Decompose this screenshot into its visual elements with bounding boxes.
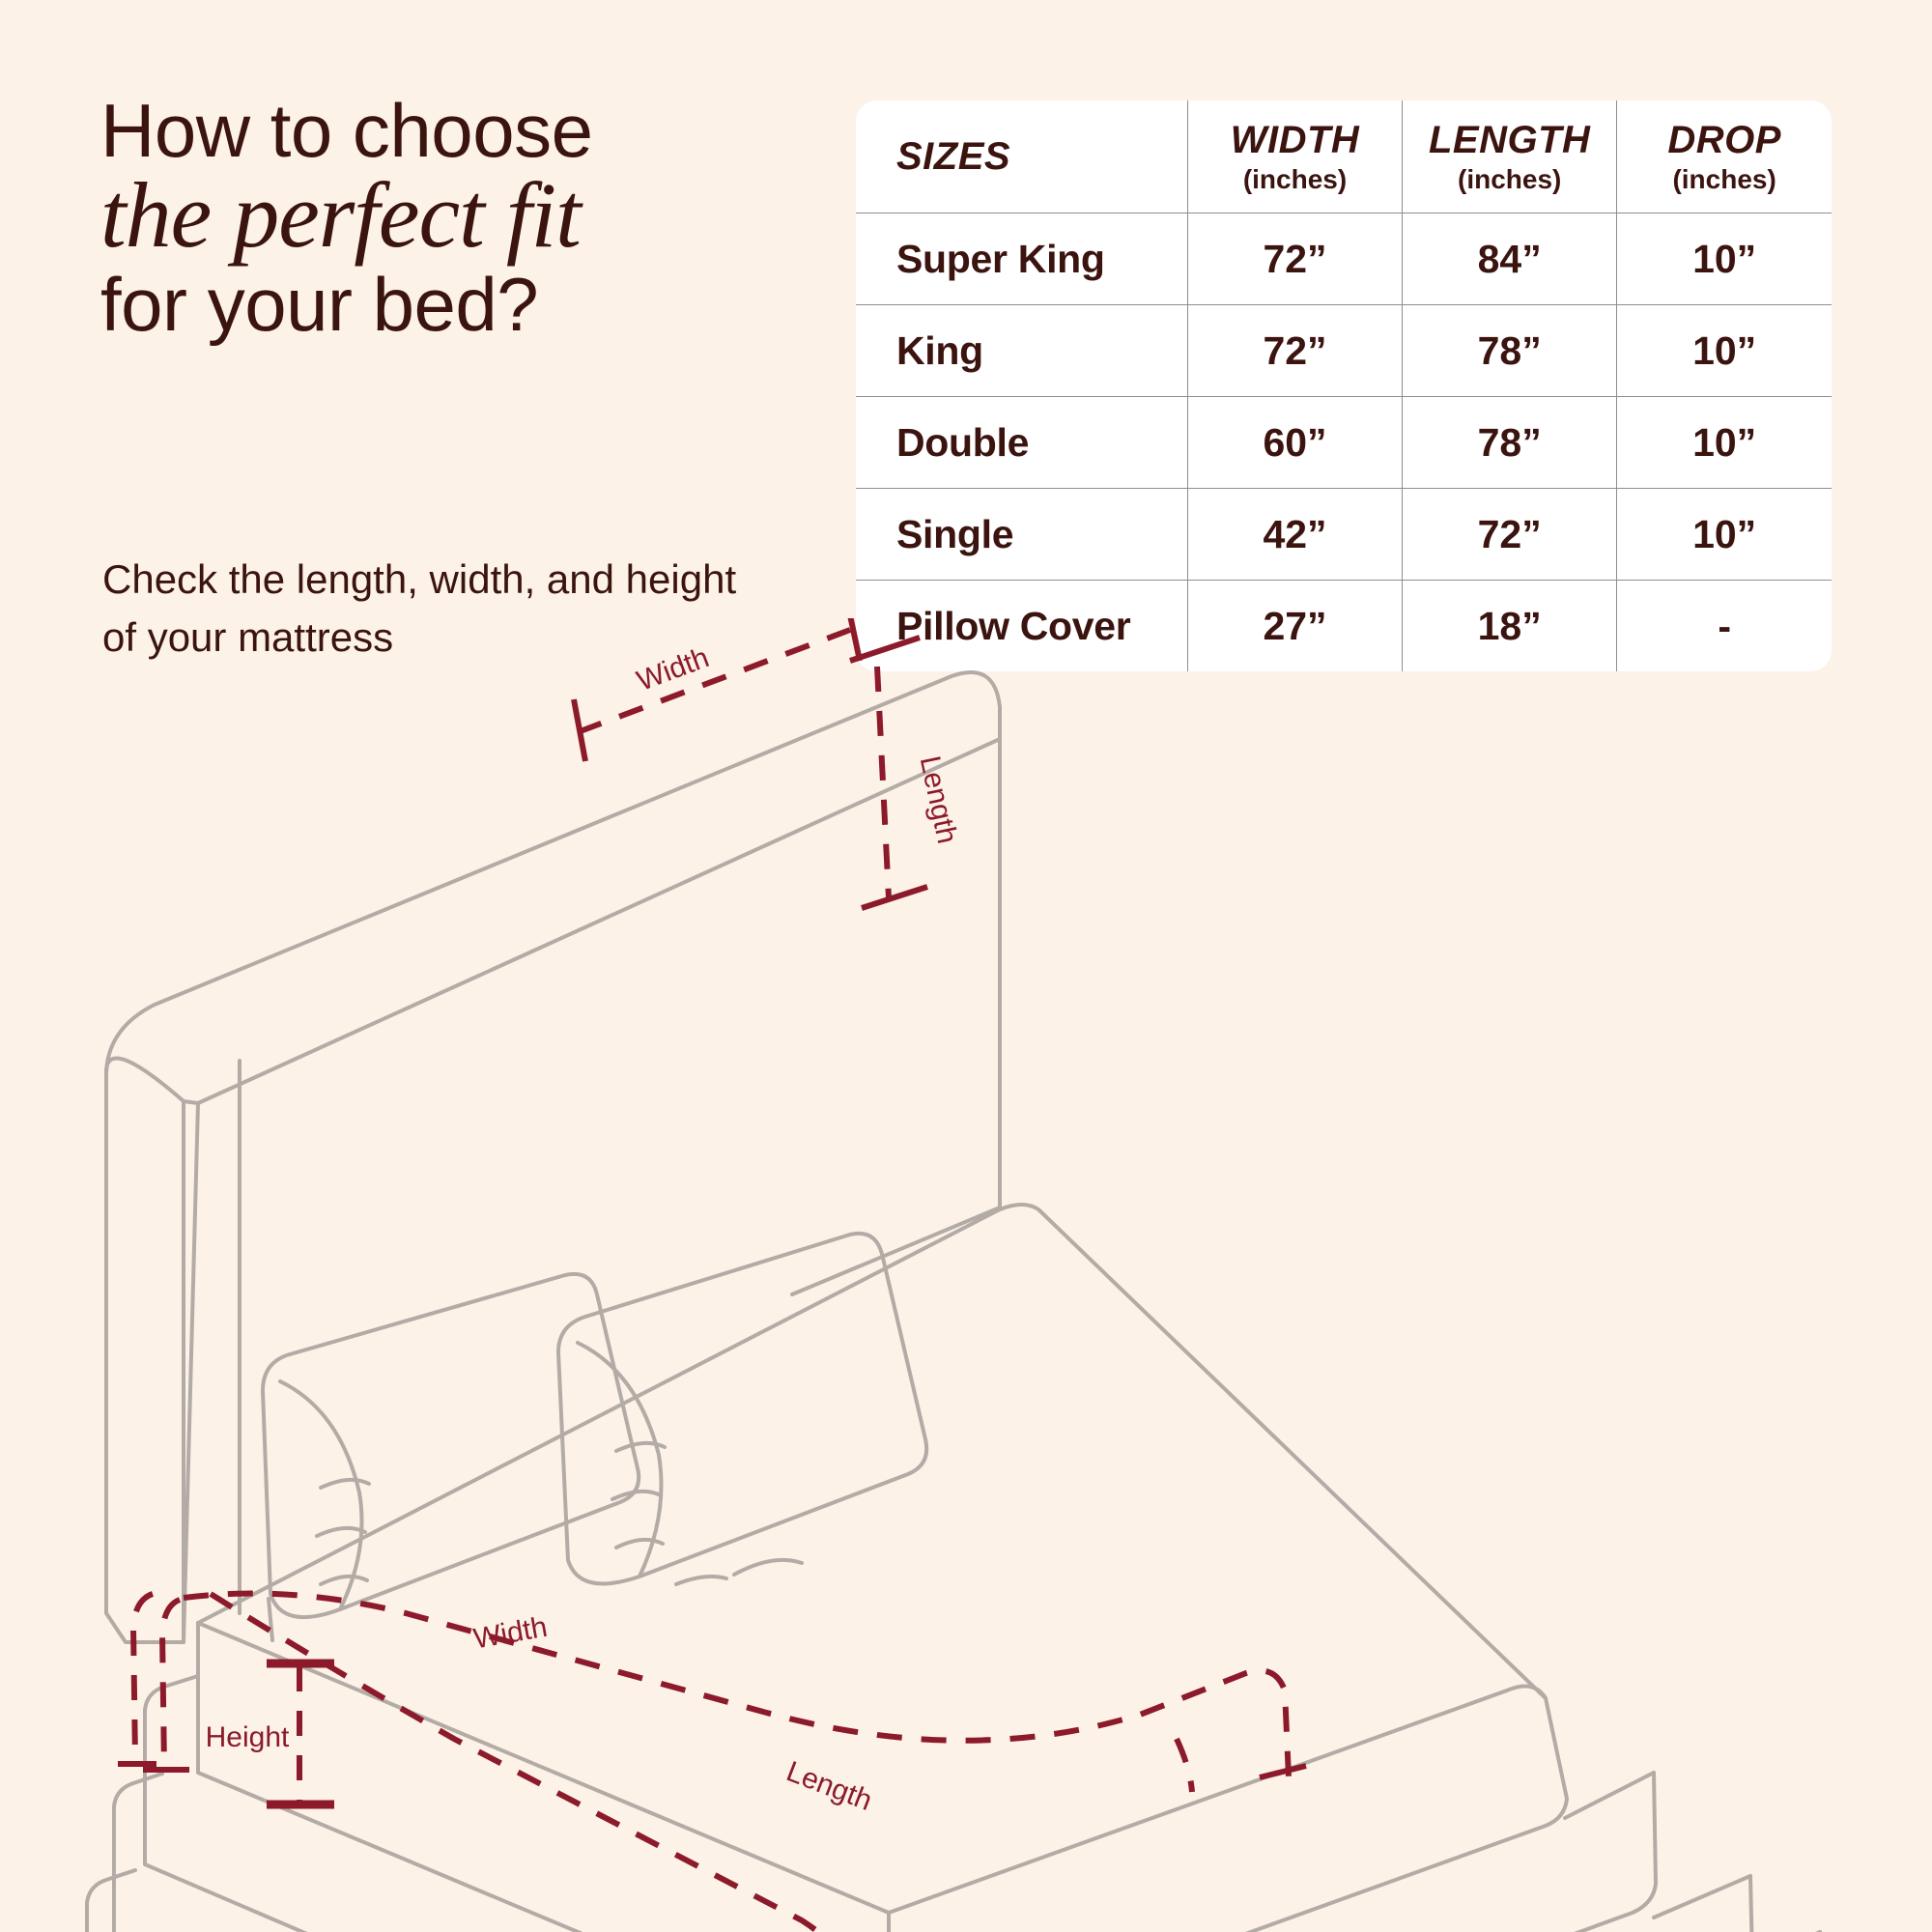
drop-guide-right [1177, 1739, 1192, 1792]
table-row: King 72” 78” 10” [856, 305, 1832, 397]
bed-diagram: Width Length Width Length Height [0, 618, 1932, 1932]
column-header-width: WIDTH (inches) [1187, 100, 1402, 213]
cell-width: 60” [1187, 397, 1402, 489]
column-header-sizes-title: SIZES [896, 135, 1187, 179]
column-header-length: LENGTH (inches) [1403, 100, 1617, 213]
table-row: Double 60” 78” 10” [856, 397, 1832, 489]
page-title-line2: the perfect fit [100, 166, 835, 265]
dimension-labels: Width Length Width Length Height [206, 641, 963, 1817]
column-header-width-unit: (inches) [1188, 164, 1402, 195]
pillow-left-fold-3 [321, 1480, 369, 1488]
mattress-top-back-edges [198, 1205, 1546, 1698]
base-right-notch [1565, 1773, 1654, 1818]
pillow-right-fold-5 [676, 1577, 726, 1584]
base-left-top-curve [145, 1676, 198, 1710]
plinth-outline [87, 1903, 1820, 1932]
table-header-row: SIZES WIDTH (inches) LENGTH (inches) DRO… [856, 100, 1832, 213]
mattress-length-dimension-line [211, 1594, 889, 1932]
column-header-drop: DROP (inches) [1617, 100, 1832, 213]
cell-size: King [856, 305, 1187, 397]
cell-drop: 10” [1617, 397, 1832, 489]
table-row: Super King 72” 84” 10” [856, 213, 1832, 305]
pillow-left-fold-2 [317, 1528, 365, 1536]
label-pillow-length: Length [914, 753, 963, 847]
base-right-face-upper [889, 1773, 1656, 1932]
base-right-notch-2 [1654, 1876, 1750, 1918]
cell-drop: 10” [1617, 489, 1832, 581]
pillow-length-tick-bottom [862, 887, 927, 908]
pillow-left-shadow [269, 1599, 272, 1640]
pillow-length-tick-top [850, 638, 920, 661]
pillow-width-dimension-line [578, 630, 850, 732]
infographic-page: How to choose the perfect fit for your b… [0, 0, 1932, 1932]
base-left-face-lower [114, 1806, 889, 1932]
cell-length: 78” [1403, 397, 1617, 489]
dimension-lines [118, 618, 1306, 1932]
table-row: Single 42” 72” 10” [856, 489, 1832, 581]
cell-width: 72” [1187, 213, 1402, 305]
headboard-inner-fold [184, 1101, 198, 1103]
cell-size: Super King [856, 213, 1187, 305]
cell-drop: 10” [1617, 213, 1832, 305]
cell-drop: 10” [1617, 305, 1832, 397]
headboard-right-edge [792, 739, 1000, 1294]
mattress-width-tick-right [1260, 1766, 1306, 1777]
pillow-right-fold-1 [616, 1540, 663, 1548]
mattress-top-front-edges [198, 1623, 1546, 1913]
cell-width: 72” [1187, 305, 1402, 397]
label-pillow-width: Width [633, 641, 713, 697]
column-header-sizes: SIZES [856, 100, 1187, 213]
cell-size: Double [856, 397, 1187, 489]
pillow-width-tick-right [846, 618, 860, 661]
pillow-right-fold-2 [612, 1492, 661, 1499]
cell-size: Single [856, 489, 1187, 581]
pillow-left [263, 1274, 639, 1617]
pillow-right-fold-4 [734, 1560, 802, 1575]
base-left-lower-curve [114, 1774, 162, 1806]
column-header-drop-unit: (inches) [1617, 164, 1832, 195]
column-header-length-unit: (inches) [1403, 164, 1616, 195]
label-mattress-height: Height [206, 1721, 290, 1753]
pillow-left-fold-1 [321, 1577, 367, 1584]
mattress-right-face [889, 1698, 1567, 1932]
size-chart-table: SIZES WIDTH (inches) LENGTH (inches) DRO… [856, 100, 1832, 671]
label-mattress-length: Length [782, 1755, 876, 1817]
page-title-line3: for your bed? [100, 266, 835, 345]
base-right-face-lower [889, 1876, 1752, 1932]
column-header-drop-title: DROP [1617, 119, 1832, 162]
plinth-left-curve [87, 1870, 135, 1903]
cell-width: 42” [1187, 489, 1402, 581]
cell-length: 72” [1403, 489, 1617, 581]
cell-length: 84” [1403, 213, 1617, 305]
headboard-left-edge [106, 1058, 184, 1642]
cell-length: 78” [1403, 305, 1617, 397]
bed-frame-outline [87, 672, 1820, 1932]
page-title-line1: How to choose [100, 93, 835, 170]
column-header-length-title: LENGTH [1403, 119, 1616, 162]
heading-block: How to choose the perfect fit for your b… [100, 93, 835, 345]
column-header-width-title: WIDTH [1188, 119, 1402, 162]
